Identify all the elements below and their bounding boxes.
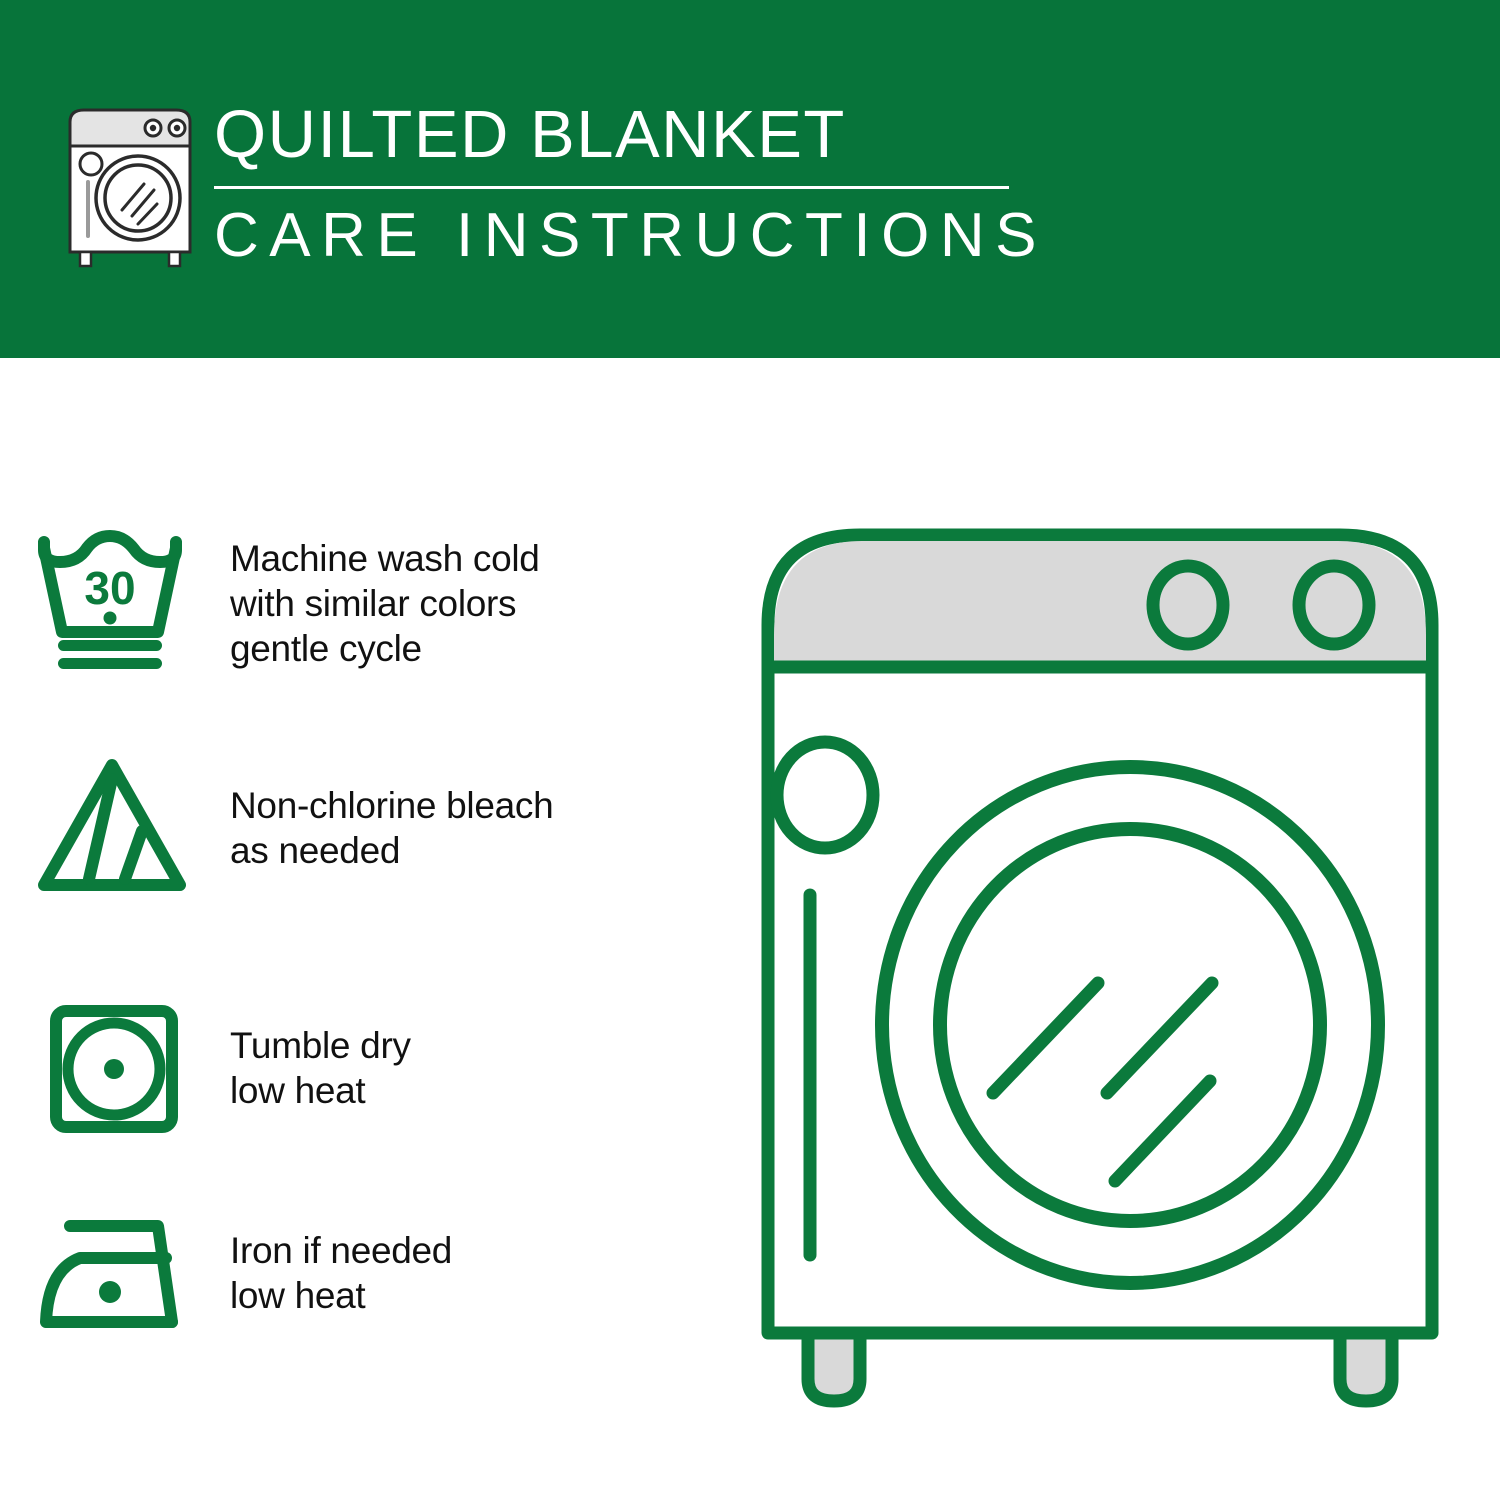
header-title-block: QUILTED BLANKET CARE INSTRUCTIONS [214,96,1034,273]
list-item-label: Non-chlorine bleach as needed [230,783,553,873]
care-instructions-page: QUILTED BLANKET CARE INSTRUCTIONS 30 [0,0,1500,1500]
care-symbol-list: 30 Machine wash cold with similar colors… [0,358,740,1500]
page-subtitle: CARE INSTRUCTIONS [214,199,1034,273]
tumble-dry-icon [0,993,230,1143]
washing-machine-illustration [740,495,1460,1415]
non-chlorine-bleach-triangle-icon [0,753,230,903]
list-item-label: Machine wash cold with similar colors ge… [230,536,540,671]
list-item: Tumble dry low heat [0,978,740,1158]
list-item: 30 Machine wash cold with similar colors… [0,508,740,698]
list-item: Iron if needed low heat [0,1188,740,1358]
iron-icon [0,1198,230,1348]
list-item: Non-chlorine bleach as needed [0,738,740,918]
list-item-label: Tumble dry low heat [230,1023,411,1113]
header-banner: QUILTED BLANKET CARE INSTRUCTIONS [0,0,1500,358]
list-item-label: Iron if needed low heat [230,1228,452,1318]
page-title: QUILTED BLANKET [214,96,1034,174]
washing-machine-logo-icon [62,104,198,268]
machine-wash-tub-icon: 30 [0,528,230,678]
title-divider [214,186,1009,189]
svg-text:30: 30 [84,562,135,614]
